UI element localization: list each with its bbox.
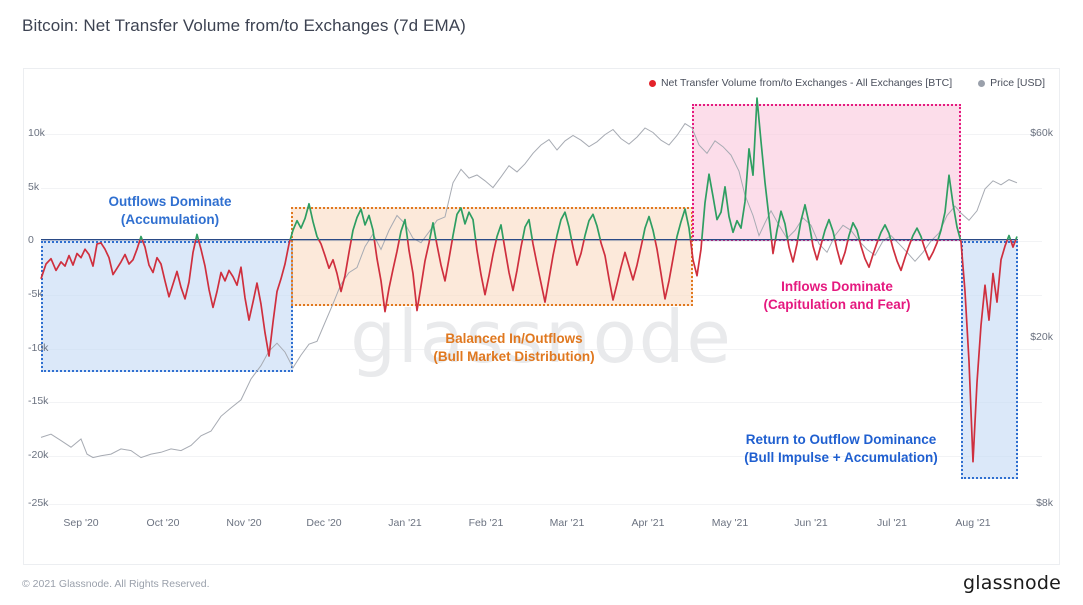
y-axis-right-tick: $60k bbox=[1030, 127, 1053, 139]
net-inflow-segment bbox=[676, 209, 690, 240]
net-outflow-segment bbox=[812, 240, 823, 260]
annotation-line-1: Return to Outflow Dominance bbox=[744, 431, 937, 449]
x-axis-tick: Apr '21 bbox=[632, 517, 665, 529]
net-inflow-segment bbox=[196, 234, 199, 239]
y-axis-left-tick: 0 bbox=[28, 234, 34, 246]
x-axis-tick: Aug '21 bbox=[955, 517, 990, 529]
y-axis-right-tick: $8k bbox=[1036, 497, 1053, 509]
net-outflow-segment bbox=[41, 240, 140, 279]
y-axis-left-tick: -15k bbox=[28, 395, 48, 407]
net-outflow-segment bbox=[436, 240, 452, 281]
net-outflow-segment bbox=[772, 240, 776, 254]
net-inflow-segment bbox=[848, 223, 859, 240]
net-inflow-segment bbox=[911, 228, 922, 240]
annotation-line-1: Inflows Dominate bbox=[763, 278, 910, 296]
net-outflow-segment bbox=[1011, 240, 1016, 247]
x-axis-tick: Nov '20 bbox=[226, 517, 261, 529]
annotation-line-1: Outflows Dominate bbox=[108, 193, 231, 211]
y-axis-left-tick: -25k bbox=[28, 497, 48, 509]
annotation-line-2: (Accumulation) bbox=[108, 211, 231, 229]
net-inflow-segment bbox=[584, 214, 600, 239]
net-outflow-segment bbox=[960, 240, 1007, 462]
net-outflow-segment bbox=[408, 240, 430, 311]
net-outflow-segment bbox=[142, 240, 196, 299]
glassnode-logo: glassnode bbox=[963, 572, 1061, 594]
legend-label: Net Transfer Volume from/to Exchanges - … bbox=[661, 77, 952, 89]
x-axis-tick: May '21 bbox=[712, 517, 748, 529]
y-axis-left-tick: 5k bbox=[28, 181, 39, 193]
net-inflow-segment bbox=[452, 208, 475, 240]
net-outflow-segment bbox=[788, 240, 798, 262]
y-axis-left-tick: -5k bbox=[28, 288, 43, 300]
net-outflow-segment bbox=[198, 240, 290, 356]
net-inflow-segment bbox=[399, 220, 407, 240]
legend-dot-icon bbox=[978, 80, 985, 87]
page-title: Bitcoin: Net Transfer Volume from/to Exc… bbox=[22, 16, 466, 36]
y-axis-left-tick: -20k bbox=[28, 449, 48, 461]
net-inflow-segment bbox=[702, 98, 772, 240]
net-outflow-segment bbox=[572, 240, 585, 265]
x-axis-tick: Dec '20 bbox=[306, 517, 341, 529]
annotation-line-2: (Capitulation and Fear) bbox=[763, 296, 910, 314]
legend-label: Price [USD] bbox=[990, 77, 1045, 89]
net-outflow-segment bbox=[503, 240, 522, 291]
net-outflow-segment bbox=[532, 240, 556, 302]
annotation-line-2: (Bull Market Distribution) bbox=[433, 348, 594, 366]
x-axis-tick: Feb '21 bbox=[469, 517, 504, 529]
legend-dot-icon bbox=[649, 80, 656, 87]
plot-area: glassnodeNet Transfer Volume from/to Exc… bbox=[24, 69, 1059, 564]
annotation-line-2: (Bull Impulse + Accumulation) bbox=[744, 449, 937, 467]
net-inflow-segment bbox=[822, 220, 835, 240]
net-inflow-segment bbox=[643, 217, 655, 240]
net-inflow-segment bbox=[556, 212, 571, 240]
net-outflow-segment bbox=[600, 240, 642, 300]
y-axis-left-tick: 10k bbox=[28, 127, 45, 139]
annotation-balanced-flows: Balanced In/Outflows(Bull Market Distrib… bbox=[433, 330, 594, 366]
chart-page: Bitcoin: Net Transfer Volume from/to Exc… bbox=[0, 0, 1083, 605]
net-inflow-segment bbox=[775, 211, 787, 240]
net-outflow-segment bbox=[655, 240, 676, 299]
annotation-line-1: Balanced In/Outflows bbox=[433, 330, 594, 348]
net-outflow-segment bbox=[891, 240, 912, 271]
annotation-outflows-dominate: Outflows Dominate(Accumulation) bbox=[108, 193, 231, 229]
legend-item-1[interactable]: Price [USD] bbox=[978, 77, 1045, 89]
y-axis-left-tick: -10k bbox=[28, 342, 48, 354]
x-axis-tick: Oct '20 bbox=[147, 517, 180, 529]
annotation-return-outflow: Return to Outflow Dominance(Bull Impulse… bbox=[744, 431, 937, 467]
net-inflow-segment bbox=[523, 220, 533, 240]
chart-legend: Net Transfer Volume from/to Exchanges - … bbox=[649, 77, 1045, 89]
net-inflow-segment bbox=[938, 175, 960, 240]
net-inflow-segment bbox=[1016, 237, 1017, 240]
x-axis-tick: Jul '21 bbox=[877, 517, 907, 529]
net-outflow-segment bbox=[476, 240, 497, 295]
net-inflow-segment bbox=[290, 204, 319, 240]
x-axis-tick: Jan '21 bbox=[388, 517, 422, 529]
series-canvas bbox=[24, 69, 1060, 565]
net-outflow-segment bbox=[374, 240, 399, 312]
annotation-inflows-dominate: Inflows Dominate(Capitulation and Fear) bbox=[763, 278, 910, 314]
x-axis-tick: Jun '21 bbox=[794, 517, 828, 529]
chart-panel: glassnodeNet Transfer Volume from/to Exc… bbox=[23, 68, 1060, 565]
x-axis-tick: Mar '21 bbox=[550, 517, 585, 529]
x-axis-tick: Sep '20 bbox=[63, 517, 98, 529]
legend-item-0[interactable]: Net Transfer Volume from/to Exchanges - … bbox=[649, 77, 952, 89]
net-inflow-segment bbox=[430, 223, 436, 240]
y-axis-right-tick: $20k bbox=[1030, 331, 1053, 343]
net-outflow-segment bbox=[835, 240, 848, 264]
net-inflow-segment bbox=[496, 225, 503, 240]
net-outflow-segment bbox=[691, 240, 702, 276]
net-inflow-segment bbox=[351, 209, 374, 240]
copyright-text: © 2021 Glassnode. All Rights Reserved. bbox=[22, 578, 210, 590]
net-outflow-segment bbox=[319, 240, 352, 292]
